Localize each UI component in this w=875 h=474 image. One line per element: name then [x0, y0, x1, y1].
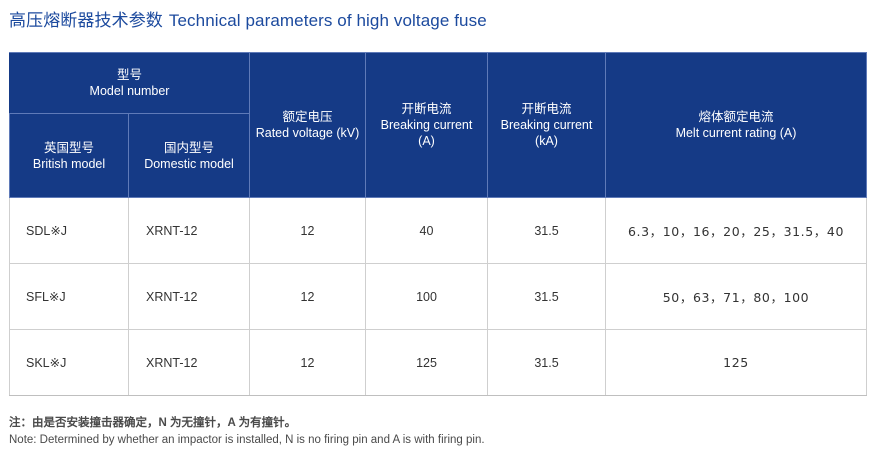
table-header-row-group: 型号 Model number 额定电压 Rated voltage (kV) …	[10, 53, 867, 114]
header-breaking-current-a-unit: (A)	[366, 133, 487, 149]
header-breaking-current-ka-unit: (kA)	[488, 133, 605, 149]
table-row: SFL※J XRNT-12 12 100 31.5 50，63，71，80，10…	[10, 264, 867, 330]
header-model-number-cn: 型号	[10, 67, 249, 83]
cell-melt-current-rating: 50，63，71，80，100	[606, 264, 867, 330]
cell-british-model: SDL※J	[10, 198, 129, 264]
header-domestic-model-cn: 国内型号	[129, 140, 249, 156]
table-body: SDL※J XRNT-12 12 40 31.5 6.3，10，16，20，25…	[10, 198, 867, 396]
header-breaking-current-a: 开断电流 Breaking current (A)	[366, 53, 488, 198]
cell-rated-voltage: 12	[250, 198, 366, 264]
header-model-number-en: Model number	[10, 83, 249, 99]
cell-breaking-current-ka: 31.5	[488, 264, 606, 330]
footnote: 注：由是否安装撞击器确定，N 为无撞针，A 为有撞针。 Note: Determ…	[9, 415, 809, 449]
table-row: SKL※J XRNT-12 12 125 31.5 125	[10, 330, 867, 396]
table-row: SDL※J XRNT-12 12 40 31.5 6.3，10，16，20，25…	[10, 198, 867, 264]
header-british-model-en: British model	[10, 156, 128, 172]
header-breaking-current-ka-cn: 开断电流	[488, 101, 605, 117]
footnote-english: Note: Determined by whether an impactor …	[9, 432, 809, 449]
header-british-model: 英国型号 British model	[10, 114, 129, 198]
cell-breaking-current-a: 100	[366, 264, 488, 330]
cell-domestic-model: XRNT-12	[129, 264, 250, 330]
cell-rated-voltage: 12	[250, 330, 366, 396]
footnote-chinese: 注：由是否安装撞击器确定，N 为无撞针，A 为有撞针。	[9, 415, 809, 432]
cell-british-model: SFL※J	[10, 264, 129, 330]
cell-british-model: SKL※J	[10, 330, 129, 396]
cell-breaking-current-a: 125	[366, 330, 488, 396]
cell-rated-voltage: 12	[250, 264, 366, 330]
table-header: 型号 Model number 额定电压 Rated voltage (kV) …	[10, 53, 867, 198]
cell-domestic-model: XRNT-12	[129, 330, 250, 396]
page-title-english: Technical parameters of high voltage fus…	[169, 11, 487, 30]
spec-sheet-page: 高压熔断器技术参数Technical parameters of high vo…	[0, 0, 875, 474]
cell-melt-current-rating: 125	[606, 330, 867, 396]
cell-domestic-model: XRNT-12	[129, 198, 250, 264]
header-british-model-cn: 英国型号	[10, 140, 128, 156]
cell-breaking-current-ka: 31.5	[488, 198, 606, 264]
cell-breaking-current-ka: 31.5	[488, 330, 606, 396]
cell-melt-current-rating: 6.3，10，16，20，25，31.5，40	[606, 198, 867, 264]
header-breaking-current-ka: 开断电流 Breaking current (kA)	[488, 53, 606, 198]
header-breaking-current-a-cn: 开断电流	[366, 101, 487, 117]
page-title: 高压熔断器技术参数Technical parameters of high vo…	[9, 9, 487, 33]
header-domestic-model: 国内型号 Domestic model	[129, 114, 250, 198]
header-breaking-current-a-en: Breaking current	[366, 117, 487, 133]
header-rated-voltage-cn: 额定电压	[250, 109, 365, 125]
header-model-number: 型号 Model number	[10, 53, 250, 114]
cell-breaking-current-a: 40	[366, 198, 488, 264]
header-rated-voltage-en: Rated voltage (kV)	[250, 125, 365, 141]
header-melt-current-rating-cn: 熔体额定电流	[606, 109, 866, 125]
header-domestic-model-en: Domestic model	[129, 156, 249, 172]
page-title-chinese: 高压熔断器技术参数	[9, 11, 163, 30]
high-voltage-fuse-spec-table: 型号 Model number 额定电压 Rated voltage (kV) …	[9, 52, 867, 396]
header-melt-current-rating: 熔体额定电流 Melt current rating (A)	[606, 53, 867, 198]
header-melt-current-rating-en: Melt current rating (A)	[606, 125, 866, 141]
header-rated-voltage: 额定电压 Rated voltage (kV)	[250, 53, 366, 198]
header-breaking-current-ka-en: Breaking current	[488, 117, 605, 133]
